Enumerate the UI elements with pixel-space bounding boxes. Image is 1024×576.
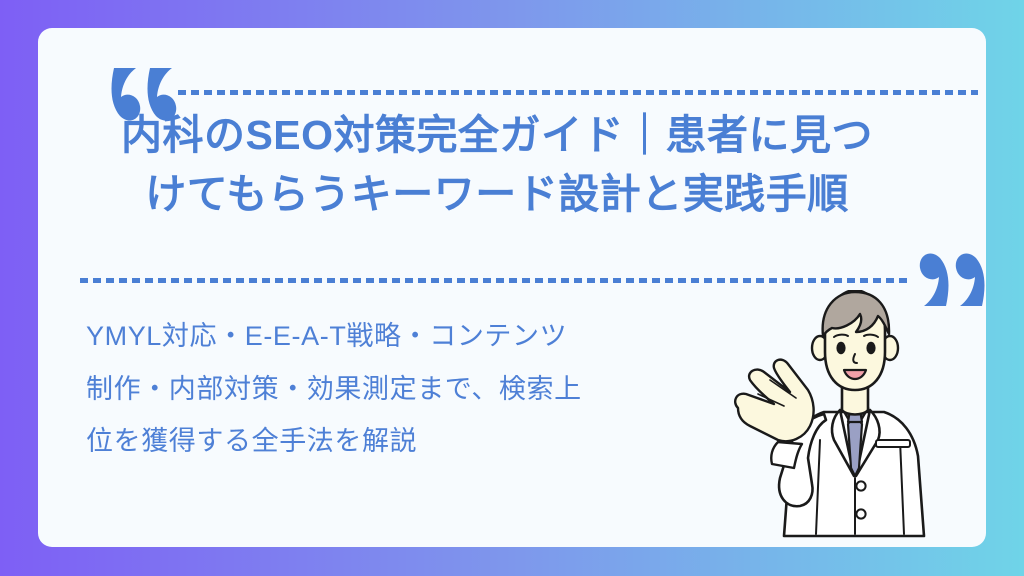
page-title: 内科のSEO対策完全ガイド｜患者に見つ けてもらうキーワード設計と実践手順	[82, 106, 912, 225]
top-dashed-rule	[178, 90, 978, 95]
subtitle-text: YMYL対応・E-E-A-T戦略・コンテンツ 制作・内部対策・効果測定まで、検索…	[86, 310, 706, 468]
poster-canvas: 内科のSEO対策完全ガイド｜患者に見つ けてもらうキーワード設計と実践手順 YM…	[0, 0, 1024, 576]
content-card: 内科のSEO対策完全ガイド｜患者に見つ けてもらうキーワード設計と実践手順 YM…	[38, 28, 986, 547]
doctor-illustration	[728, 290, 986, 547]
bottom-dashed-rule	[80, 278, 912, 283]
